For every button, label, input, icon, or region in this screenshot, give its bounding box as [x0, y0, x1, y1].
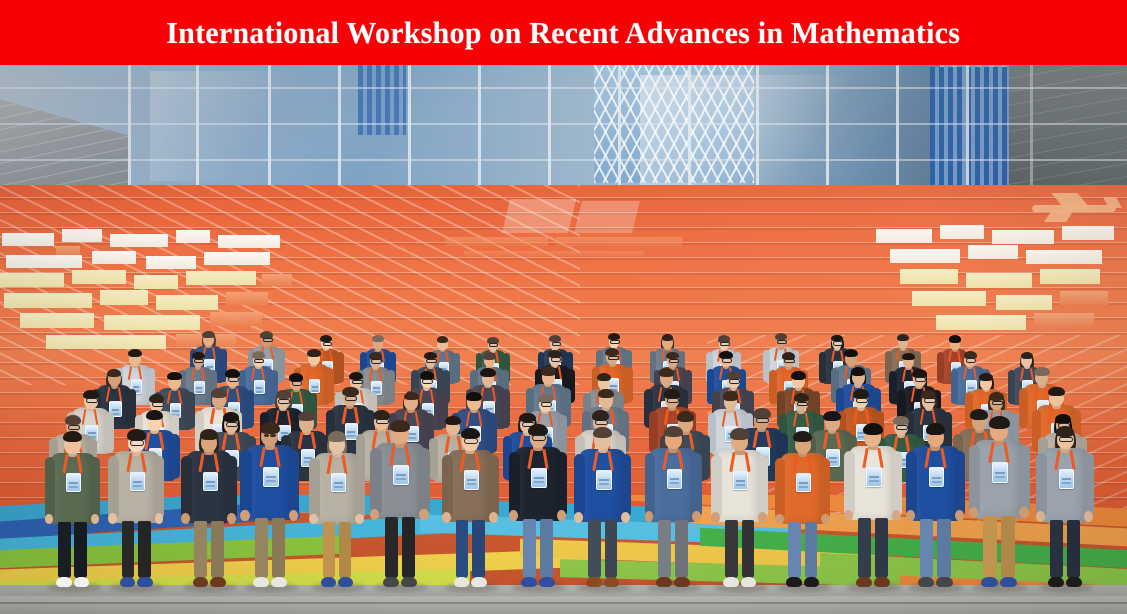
wall-glyph: [92, 251, 136, 264]
mullion: [826, 65, 829, 193]
wall-glyph: [46, 335, 166, 349]
page-title: International Workshop on Recent Advance…: [167, 15, 961, 51]
wall-glyph: [936, 315, 1026, 330]
wall-glyph: [176, 230, 210, 243]
wall-glyph: [940, 225, 984, 239]
wall-glyph: [186, 271, 256, 285]
mullion: [268, 65, 271, 193]
mullion: [338, 65, 341, 193]
wall-glyph: [966, 273, 1032, 288]
wall-glyph: [204, 252, 270, 265]
wall-glyph: [156, 295, 218, 310]
mullion: [688, 65, 691, 193]
building-facade: [0, 65, 1127, 193]
wall-glyph: [4, 293, 92, 308]
wall-glyph: [1026, 250, 1102, 264]
pavement: [0, 585, 1127, 614]
wall-glyph: [890, 249, 960, 263]
mullion-h: [0, 123, 1127, 125]
mullion: [128, 65, 131, 193]
wall-glyph: [100, 290, 148, 305]
wall-glyph: [2, 233, 54, 246]
mullion: [896, 65, 899, 193]
wall-glyph: [996, 295, 1052, 310]
mullion: [408, 65, 411, 193]
university-wordmark: [556, 237, 682, 246]
wall-glyph: [912, 291, 986, 306]
group-photo: [0, 65, 1127, 614]
wall-glyph: [1060, 291, 1108, 305]
mullion: [618, 65, 621, 193]
wall-glyph: [226, 292, 268, 305]
wall-glyph: [262, 274, 292, 286]
wall-glyph: [218, 235, 280, 248]
wall-glyph: [210, 312, 262, 326]
glass-reflection: [640, 75, 930, 193]
mullion: [548, 65, 551, 193]
wall-glyph: [146, 256, 196, 269]
wall-glyph: [20, 313, 94, 328]
mullion: [478, 65, 481, 193]
screenshot-root: International Workshop on Recent Advance…: [0, 0, 1127, 614]
title-banner: International Workshop on Recent Advance…: [0, 0, 1127, 65]
wall-glyph: [134, 275, 178, 289]
wall-glyph: [992, 230, 1054, 244]
wall-glyph: [876, 229, 932, 243]
wall-numeral: [502, 199, 576, 233]
mullion: [756, 65, 759, 193]
wall-glyph: [900, 269, 958, 284]
wall-numeral: [574, 201, 640, 233]
wall-glyph: [1062, 226, 1114, 240]
wall-glyph: [110, 234, 168, 247]
university-wordmark: [446, 237, 548, 246]
mullion: [196, 65, 199, 193]
wall-glyph: [104, 315, 200, 330]
amphitheatre-steps: [0, 185, 1127, 515]
concrete-wall-right: [1009, 65, 1127, 193]
wall-glyph: [968, 245, 1018, 259]
wall-glyph: [0, 273, 64, 287]
wall-glyph: [1040, 269, 1100, 284]
mullion: [1030, 65, 1033, 193]
mullion-h: [0, 159, 1127, 161]
wall-glyph: [176, 334, 236, 347]
university-wordmark-sub: [464, 251, 644, 256]
wall-glyph: [62, 229, 102, 242]
wall-glyph: [6, 255, 82, 268]
wall-glyph: [1034, 313, 1094, 327]
mullion: [966, 65, 969, 193]
wall-glyph: [72, 270, 126, 284]
mullion-h: [0, 87, 1127, 89]
